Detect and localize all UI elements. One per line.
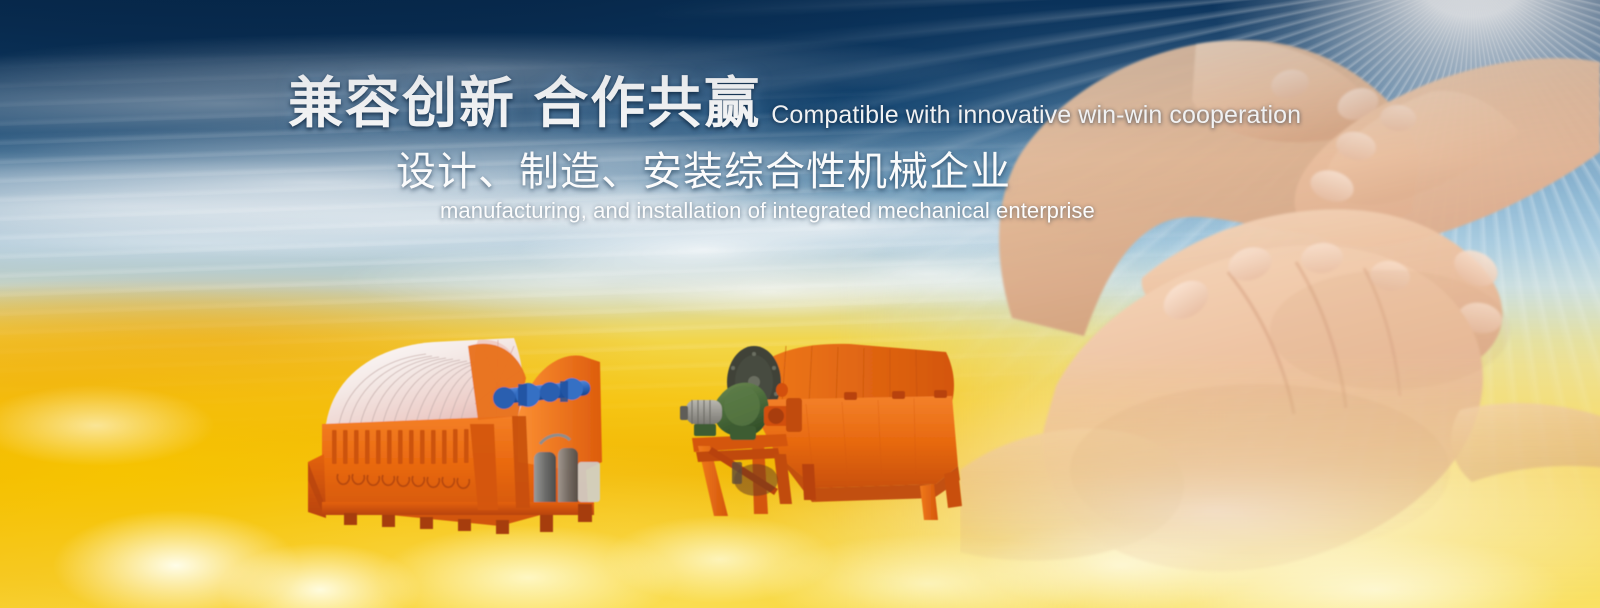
banner-copy: 兼容创新 合作共赢 Compatible with innovative win… [0, 0, 1600, 608]
subheading-english: manufacturing, and installation of integ… [440, 200, 1095, 222]
subheading-chinese: 设计、制造、安装综合性机械企业 [396, 152, 1011, 192]
headline-subtitle-english: Compatible with innovative win-win coope… [771, 103, 1301, 131]
page-title: 兼容创新 合作共赢 [288, 76, 761, 131]
promotional-banner: 兼容创新 合作共赢 Compatible with innovative win… [0, 0, 1600, 608]
headline-row: 兼容创新 合作共赢 Compatible with innovative win… [288, 76, 1301, 131]
